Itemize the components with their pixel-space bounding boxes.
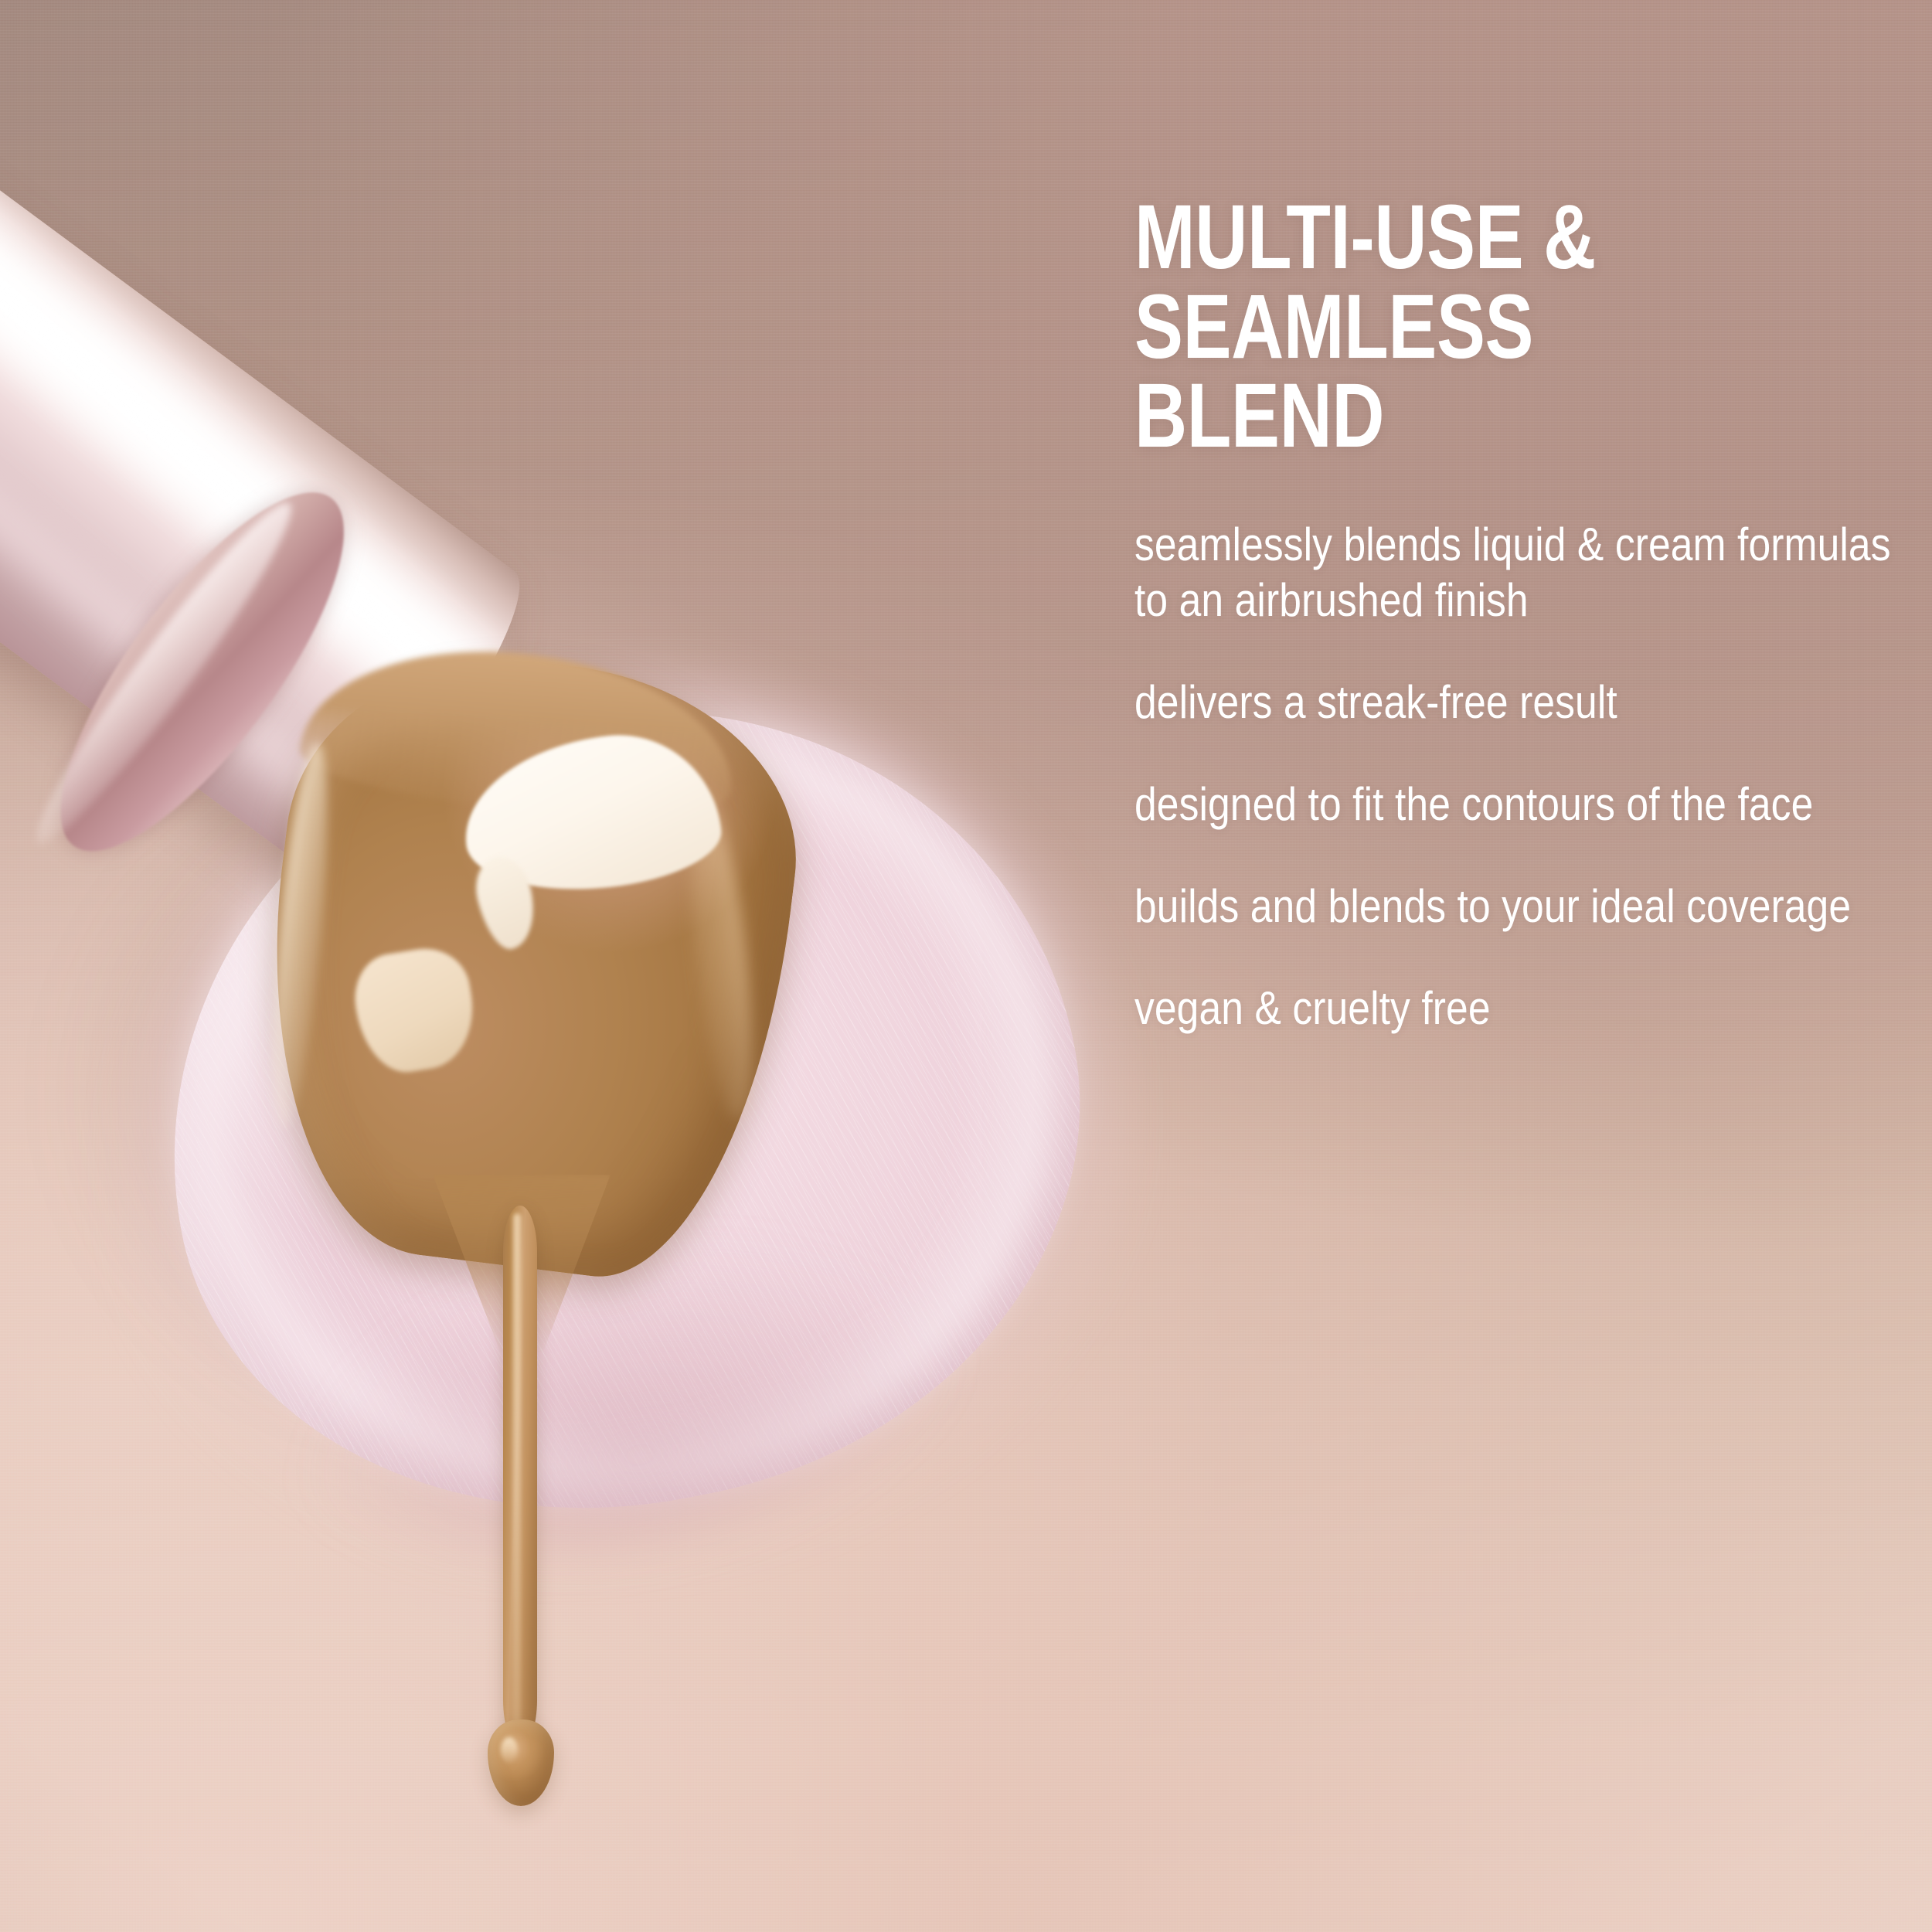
feature-item: seamlessly blends liquid & cream formula… xyxy=(1134,517,1906,628)
foundation-drip-highlight xyxy=(513,1213,521,1723)
feature-list: seamlessly blends liquid & cream formula… xyxy=(1134,517,1892,1036)
foundation-droplet xyxy=(488,1719,554,1806)
feature-item: builds and blends to your ideal coverage xyxy=(1134,879,1906,934)
headline-line-2: SEAMLESS xyxy=(1134,283,1889,372)
marketing-graphic: MULTI-USE & SEAMLESS BLEND seamlessly bl… xyxy=(0,0,1932,1932)
headline-line-1: MULTI-USE & xyxy=(1134,193,1889,283)
feature-item: vegan & cruelty free xyxy=(1134,981,1906,1036)
feature-item: delivers a streak-free result xyxy=(1134,675,1906,730)
page-title: MULTI-USE & SEAMLESS BLEND xyxy=(1134,193,1889,461)
feature-item: designed to fit the contours of the face xyxy=(1134,777,1906,832)
copy-panel: MULTI-USE & SEAMLESS BLEND seamlessly bl… xyxy=(1134,193,1892,1036)
headline-line-3: BLEND xyxy=(1134,372,1889,461)
foundation-droplet-highlight xyxy=(501,1737,518,1764)
product-image xyxy=(0,0,1159,1932)
